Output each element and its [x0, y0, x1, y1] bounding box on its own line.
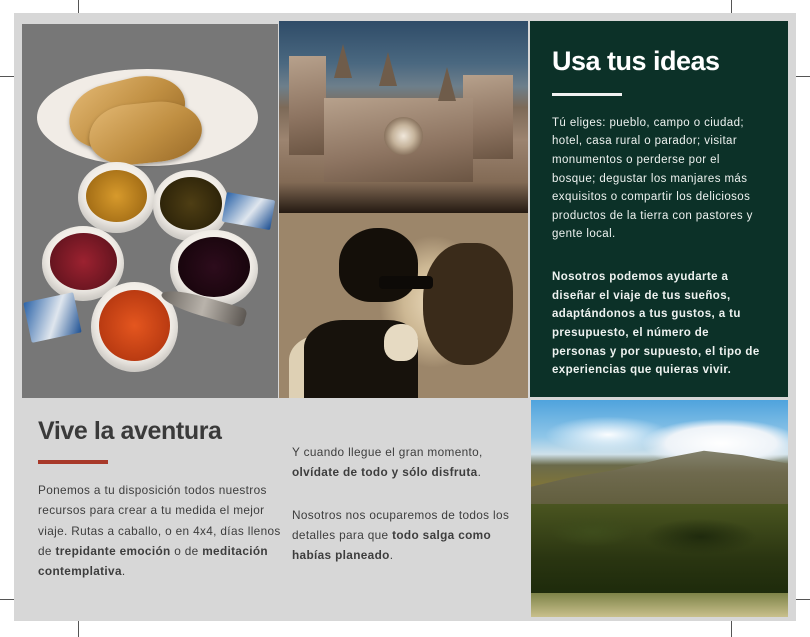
breakfast-jam-tomato [99, 290, 171, 361]
left-column-body: Ponemos a tu disposición todos nuestros … [38, 480, 282, 581]
couple-woman-hair [423, 243, 513, 365]
couple-man-hair [339, 228, 419, 302]
brochure-sheet: Usa tus ideas Tú eliges: pueblo, campo o… [14, 13, 796, 621]
middle-column-paragraph-2: Nosotros nos ocuparemos de todos los det… [292, 505, 524, 566]
landscape-forest [531, 504, 788, 595]
green-panel-heading: Usa tus ideas [552, 47, 766, 77]
gp2-part1: Nosotros podemos ayudarte a [552, 271, 728, 283]
left-column-heading: Vive la aventura [38, 417, 282, 446]
green-panel-paragraph-2: Nosotros podemos ayudarte a diseñar el v… [552, 268, 766, 380]
landscape-field [531, 593, 788, 617]
castle-tower-left [289, 56, 326, 156]
breakfast-jam-fig [160, 177, 221, 229]
breakfast-jam-strawberry [50, 233, 117, 289]
gp2-bold1: diseñar el viaje [552, 290, 641, 302]
lb-bold1: trepidante emoción [55, 544, 170, 558]
middle-text-column: Y cuando llegue el gran momento, olvídat… [292, 442, 524, 587]
green-panel-divider [552, 93, 622, 96]
castle-spire-1 [334, 44, 352, 78]
castle-spire-2 [379, 52, 397, 86]
lb-part3: . [122, 564, 126, 578]
green-panel: Usa tus ideas Tú eliges: pueblo, campo o… [530, 21, 788, 397]
mp1-bold1: olvídate de todo y sólo disfruta [292, 465, 478, 479]
green-panel-paragraph-1: Tú eliges: pueblo, campo o ciudad; hotel… [552, 114, 766, 244]
middle-column-paragraph-1: Y cuando llegue el gran momento, olvídat… [292, 442, 524, 483]
castle-spire-3 [438, 67, 456, 101]
landscape-photo [531, 400, 788, 617]
mp1-part1: Y cuando llegue el gran momento, [292, 445, 483, 459]
breakfast-jam-blackberry [178, 237, 250, 297]
couple-hand [384, 324, 419, 361]
mp2-part2: . [390, 548, 394, 562]
couple-photo [279, 213, 528, 398]
couple-sunglasses [379, 276, 434, 289]
mp1-part2: . [478, 465, 482, 479]
left-text-column: Vive la aventura Ponemos a tu disposició… [38, 417, 282, 581]
castle-photo [279, 21, 528, 213]
lb-part2: o de [171, 544, 203, 558]
left-column-divider [38, 460, 108, 464]
breakfast-photo [22, 24, 278, 398]
